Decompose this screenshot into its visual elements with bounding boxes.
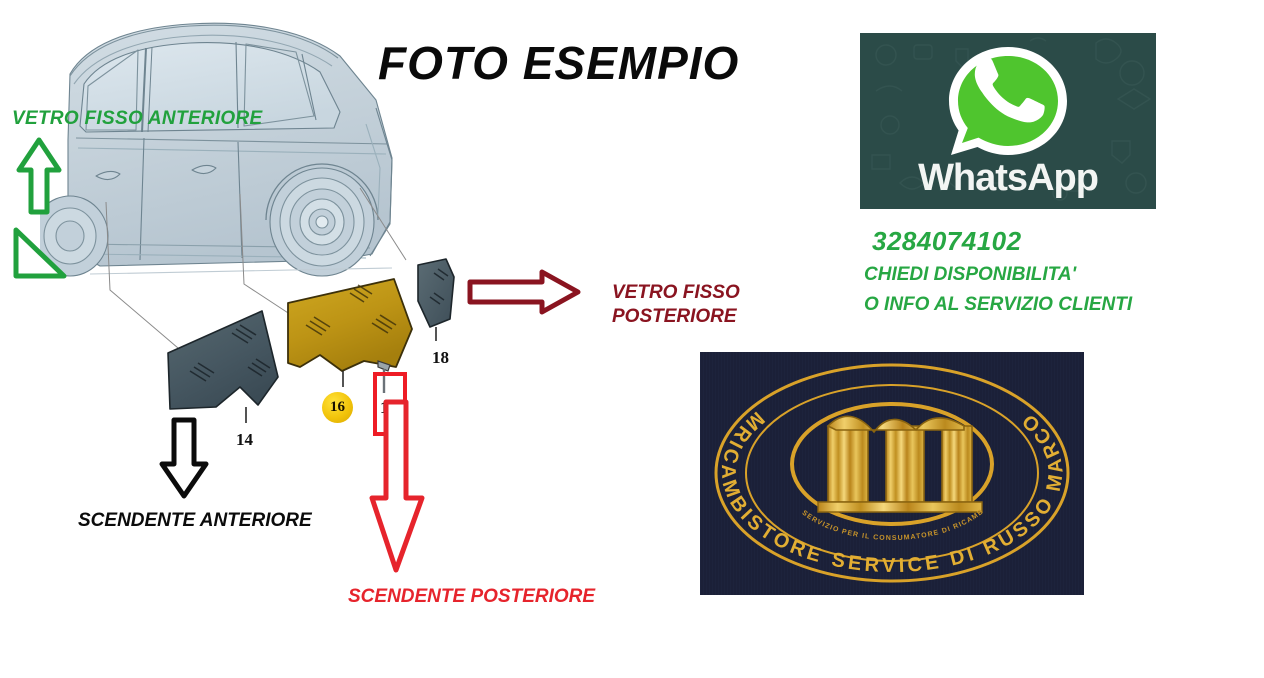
- glass-part-14: [168, 311, 278, 423]
- label-vetro-fisso-posteriore: VETRO FISSO POSTERIORE: [612, 281, 740, 329]
- part-number-badge-16: 16: [322, 392, 353, 423]
- whatsapp-banner: WhatsApp: [860, 33, 1156, 209]
- foto-esempio-poster: 14 18 17 16 FOTO ESEMPIO VETRO FISSO ANT…: [0, 0, 1264, 678]
- whatsapp-wordmark: WhatsApp: [860, 157, 1156, 200]
- glass-part-18: [418, 259, 454, 341]
- whatsapp-logo-icon: [942, 41, 1074, 161]
- company-logo-panel: MRICAMBISTORE SERVICE DI RUSSO MARCO IL …: [700, 352, 1084, 595]
- phone-number: 3284074102: [872, 226, 1022, 257]
- label-scendente-anteriore: SCENDENTE ANTERIORE: [78, 510, 312, 532]
- part-number-14: 14: [236, 430, 253, 450]
- exploded-glass-parts: [150, 255, 480, 435]
- mricambistore-logo: MRICAMBISTORE SERVICE DI RUSSO MARCO IL …: [700, 352, 1084, 595]
- triangle-green-icon: [10, 224, 70, 282]
- part-number-18: 18: [432, 348, 449, 368]
- up-arrow-green-icon: [16, 136, 62, 216]
- label-scendente-posteriore: SCENDENTE POSTERIORE: [348, 586, 595, 608]
- down-arrow-red-icon: [366, 398, 428, 576]
- page-title: FOTO ESEMPIO: [378, 36, 739, 90]
- down-arrow-black-icon: [158, 416, 210, 500]
- contact-line-1: CHIEDI DISPONIBILITA': [864, 264, 1076, 286]
- glass-part-16: [288, 279, 412, 387]
- contact-line-2: O INFO AL SERVIZIO CLIENTI: [864, 294, 1132, 316]
- label-vetro-fisso-anteriore: VETRO FISSO ANTERIORE: [12, 108, 263, 130]
- right-arrow-darkred-icon: [466, 268, 582, 316]
